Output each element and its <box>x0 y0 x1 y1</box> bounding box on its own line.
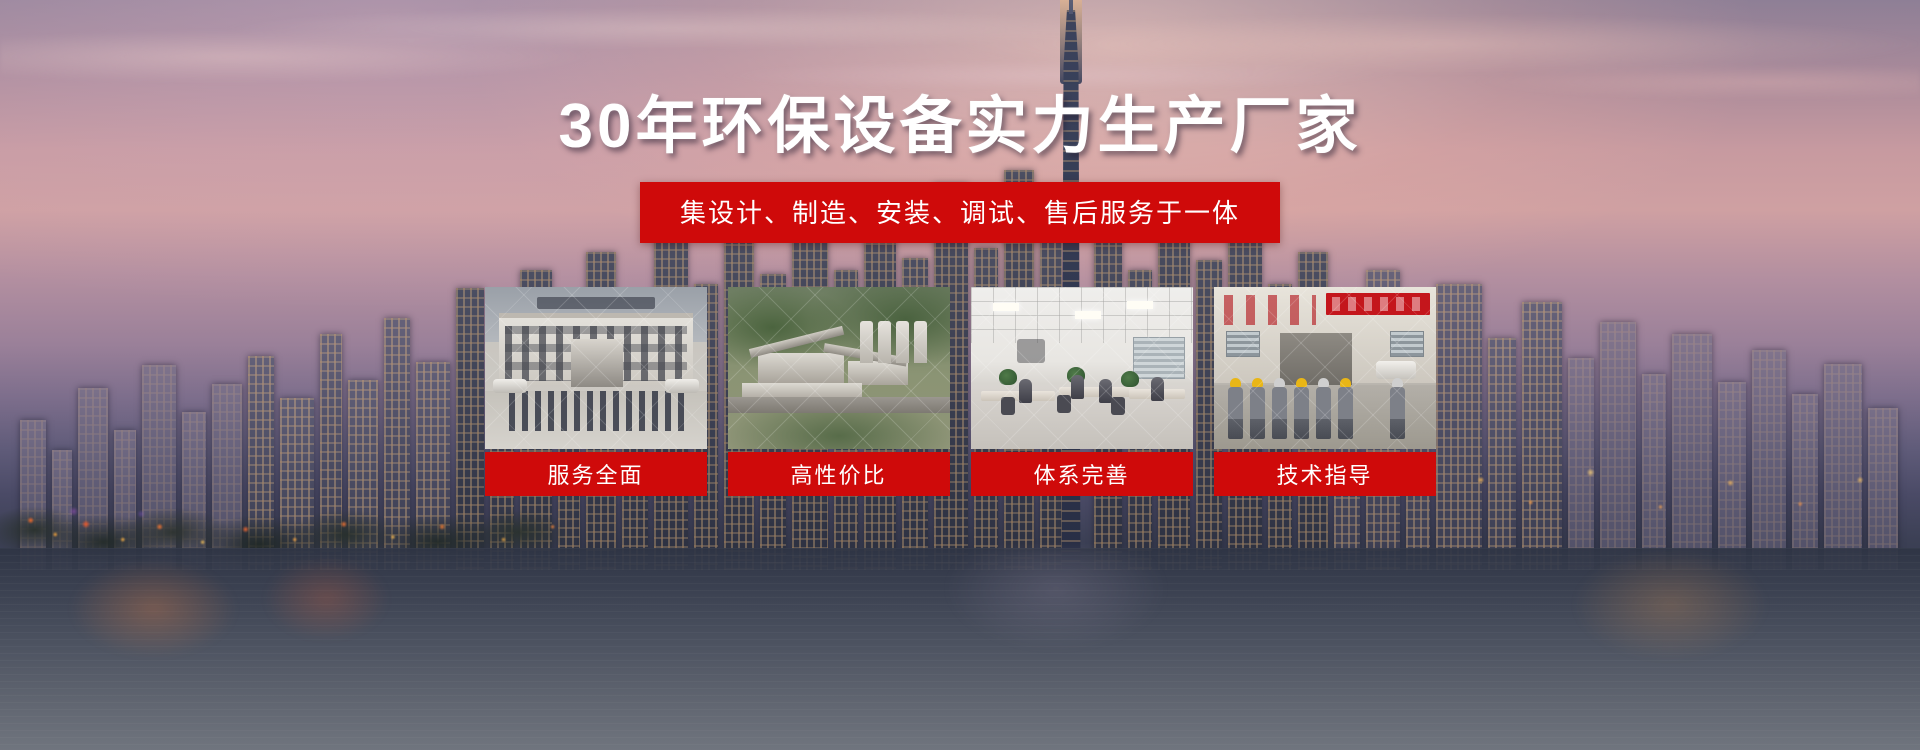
workers-in-front-of-workshop-photo <box>1214 287 1436 449</box>
feature-card-label: 高性价比 <box>728 452 950 496</box>
feature-card[interactable]: 高性价比 <box>728 287 950 496</box>
feature-card[interactable]: 体系完善 <box>971 287 1193 496</box>
company-office-building-with-staff-photo <box>485 287 707 449</box>
feature-card[interactable]: 技术指导 <box>1214 287 1436 496</box>
hero-banner: 30年环保设备实力生产厂家 集设计、制造、安装、调试、售后服务于一体 服务全面 <box>0 0 1920 750</box>
banner-headline: 30年环保设备实力生产厂家 <box>559 96 1362 158</box>
aerial-view-of-production-plant-photo <box>728 287 950 449</box>
feature-card-label: 服务全面 <box>485 452 707 496</box>
office-interior-with-employees-photo <box>971 287 1193 449</box>
feature-card-list: 服务全面 高性价比 <box>485 287 1436 496</box>
feature-card[interactable]: 服务全面 <box>485 287 707 496</box>
feature-card-label: 体系完善 <box>971 452 1193 496</box>
banner-content: 30年环保设备实力生产厂家 集设计、制造、安装、调试、售后服务于一体 服务全面 <box>0 0 1920 750</box>
feature-card-label: 技术指导 <box>1214 452 1436 496</box>
banner-subtitle-bar: 集设计、制造、安装、调试、售后服务于一体 <box>640 182 1280 243</box>
